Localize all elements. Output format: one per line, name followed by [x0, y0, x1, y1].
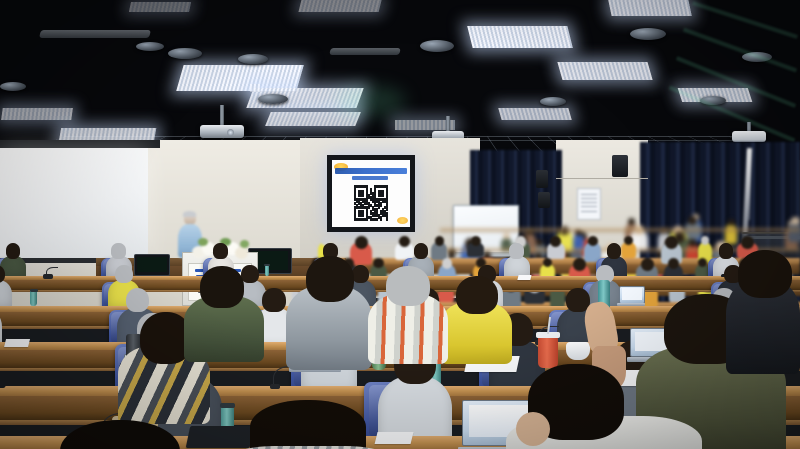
audience-head	[355, 236, 368, 249]
wall-trim-line	[556, 178, 648, 179]
audience-head	[791, 217, 799, 225]
wall-speaker-icon	[612, 155, 628, 177]
projection-screen-left	[0, 148, 148, 260]
audience-head	[456, 276, 498, 314]
ceiling-speaker-icon	[136, 42, 164, 51]
ceiling-light-panel	[299, 0, 382, 12]
qr-module	[386, 218, 388, 221]
laptop-screen	[622, 288, 643, 299]
paper-sheet	[375, 432, 414, 444]
audience-head	[435, 236, 445, 246]
laptop-lid	[619, 286, 645, 304]
audience-head	[262, 288, 286, 313]
ceiling-light-panel	[265, 112, 361, 126]
open-laptop[interactable]	[619, 286, 643, 306]
ceiling-speaker-icon	[0, 82, 26, 91]
tumbler-lid	[220, 403, 235, 409]
audience-head	[728, 219, 735, 226]
mic-base	[43, 274, 53, 279]
slide-subtitle-text	[352, 176, 388, 180]
tumbler-lid	[264, 264, 270, 266]
ceiling-mounted-projector	[200, 105, 244, 139]
mic-base	[270, 384, 280, 389]
audience-head	[738, 250, 792, 298]
qr-code	[354, 185, 388, 220]
ceiling-light-panel	[467, 26, 572, 48]
presentation-slide	[332, 160, 410, 227]
laptop-base	[617, 303, 644, 306]
audience-head	[306, 256, 354, 302]
paper-cup	[538, 332, 558, 368]
audience-head	[509, 243, 524, 258]
wall-speaker-icon	[538, 192, 550, 208]
qr-module	[386, 208, 388, 211]
wall-poster	[577, 188, 601, 220]
ceiling-light-panel	[498, 108, 571, 120]
desk-edge	[440, 228, 800, 232]
ceiling-speaker-icon	[540, 97, 566, 106]
projector-beam-glow	[336, 86, 406, 116]
ceiling-duct	[329, 48, 400, 55]
seating-rows	[0, 250, 800, 449]
notebook	[186, 426, 255, 448]
tumbler-lid	[30, 289, 38, 292]
ceiling-speaker-icon	[420, 40, 454, 52]
qr-module	[380, 218, 382, 221]
audience-head	[111, 243, 126, 258]
screen-roller-housing	[0, 140, 160, 148]
audience-head	[701, 236, 710, 245]
audience-head	[126, 288, 150, 313]
slide-title-text	[335, 168, 407, 174]
paper-bowl	[566, 342, 590, 360]
projection-screen-center	[327, 155, 415, 232]
audience-head	[200, 266, 244, 308]
projector-body	[200, 125, 244, 138]
qr-module	[368, 206, 370, 209]
ceiling-speaker-icon	[238, 54, 268, 64]
audience-head	[719, 243, 734, 258]
ceiling-reflection	[692, 1, 798, 39]
water-tumbler	[30, 290, 36, 306]
audience-head	[213, 243, 228, 258]
audience-head	[352, 265, 370, 284]
audience-head	[741, 236, 754, 249]
audience-head	[588, 236, 598, 246]
qr-module	[362, 194, 364, 197]
audience-hand	[516, 412, 550, 446]
cup-body	[538, 337, 558, 368]
qr-module	[382, 194, 384, 197]
audience-head	[414, 243, 429, 258]
water-tumbler	[265, 265, 270, 276]
ceiling-light-panel	[1, 108, 73, 120]
ceiling-light-panel	[557, 62, 652, 80]
ceiling-light-panel	[250, 84, 260, 92]
flower-foliage	[198, 238, 208, 246]
ceiling-speaker-icon	[258, 94, 288, 104]
qr-module	[362, 214, 364, 217]
audience-head	[250, 400, 366, 449]
flower-foliage	[240, 240, 249, 248]
audience-head	[665, 236, 678, 249]
qr-module	[376, 218, 378, 221]
lecture-hall-photo	[0, 0, 800, 449]
ceiling-light-panel	[608, 0, 691, 16]
paper-sheet	[4, 339, 31, 347]
qr-module	[378, 206, 380, 209]
qr-module	[366, 218, 368, 221]
qr-module	[380, 204, 382, 207]
gooseneck-microphone	[46, 268, 57, 276]
audience-head	[115, 265, 133, 284]
projector-body	[732, 131, 766, 142]
projector-mount-pole	[220, 105, 224, 127]
ceiling-duct	[39, 30, 151, 38]
ceiling-grid	[0, 0, 800, 160]
ceiling-light-panel	[129, 2, 191, 12]
ceiling-speaker-icon	[630, 28, 666, 40]
daylight-gap	[748, 150, 750, 220]
slide-accent-dot-icon	[397, 217, 409, 224]
projector-mount-pole	[446, 116, 450, 132]
audience-head	[607, 243, 622, 258]
audience-head	[386, 266, 430, 306]
ceiling-speaker-icon	[168, 48, 202, 59]
paper-sheet	[518, 275, 532, 280]
presenter-hair	[183, 211, 196, 217]
audience-head	[6, 243, 21, 258]
wall-speaker-icon	[536, 170, 548, 188]
